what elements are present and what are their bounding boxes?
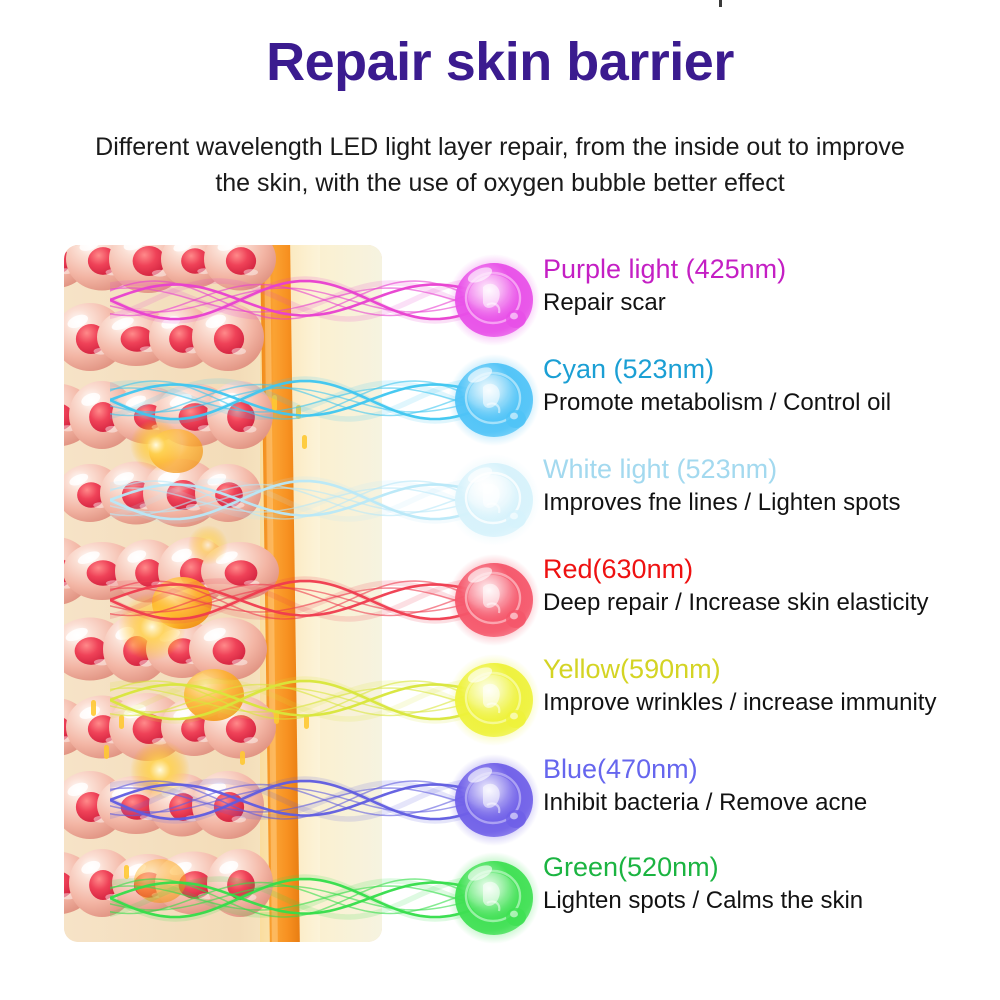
legend-text-cyan: Cyan (523nm) Promote metabolism / Contro… bbox=[543, 354, 1000, 418]
skin-illustration-panel bbox=[64, 245, 382, 942]
legend-heading: Yellow(590nm) bbox=[543, 654, 1000, 686]
legend-description: Lighten spots / Calms the skin bbox=[543, 887, 1000, 916]
legend-heading: Cyan (523nm) bbox=[543, 354, 1000, 386]
legend-heading: Red(630nm) bbox=[543, 554, 1000, 586]
legend-text-blue: Blue(470nm) Inhibit bacteria / Remove ac… bbox=[543, 754, 1000, 818]
led-orb-white bbox=[447, 453, 541, 547]
led-orb-red bbox=[447, 553, 541, 647]
legend-text-yellow: Yellow(590nm) Improve wrinkles / increas… bbox=[543, 654, 1000, 718]
page-title: Repair skin barrier bbox=[0, 34, 1000, 91]
top-edge-artifact bbox=[719, 0, 722, 7]
led-orb-blue bbox=[447, 753, 541, 847]
legend-heading: Blue(470nm) bbox=[543, 754, 1000, 786]
legend-text-purple: Purple light (425nm) Repair scar bbox=[543, 254, 1000, 318]
legend-description: Promote metabolism / Control oil bbox=[543, 389, 1000, 418]
page-subtitle: Different wavelength LED light layer rep… bbox=[70, 130, 930, 201]
led-orb-yellow bbox=[447, 653, 541, 747]
infographic-page: Repair skin barrier Different wavelength… bbox=[0, 0, 1000, 1000]
led-orb-cyan bbox=[447, 353, 541, 447]
legend-heading: Purple light (425nm) bbox=[543, 254, 1000, 286]
legend-text-white: White light (523nm) Improves fne lines /… bbox=[543, 454, 1000, 518]
legend-description: Repair scar bbox=[543, 289, 1000, 318]
legend-description: Deep repair / Increase skin elasticity bbox=[543, 589, 1000, 618]
legend-text-red: Red(630nm) Deep repair / Increase skin e… bbox=[543, 554, 1000, 618]
legend-text-green: Green(520nm) Lighten spots / Calms the s… bbox=[543, 852, 1000, 916]
legend-heading: Green(520nm) bbox=[543, 852, 1000, 884]
led-orb-purple bbox=[447, 253, 541, 347]
legend-description: Improves fne lines / Lighten spots bbox=[543, 489, 1000, 518]
legend-description: Inhibit bacteria / Remove acne bbox=[543, 789, 1000, 818]
legend-description: Improve wrinkles / increase immunity bbox=[543, 689, 1000, 718]
subtitle-line-2: the skin, with the use of oxygen bubble … bbox=[70, 166, 930, 202]
legend-heading: White light (523nm) bbox=[543, 454, 1000, 486]
skin-cross-section-svg bbox=[64, 245, 382, 942]
subtitle-line-1: Different wavelength LED light layer rep… bbox=[70, 130, 930, 166]
led-orb-green bbox=[447, 851, 541, 945]
